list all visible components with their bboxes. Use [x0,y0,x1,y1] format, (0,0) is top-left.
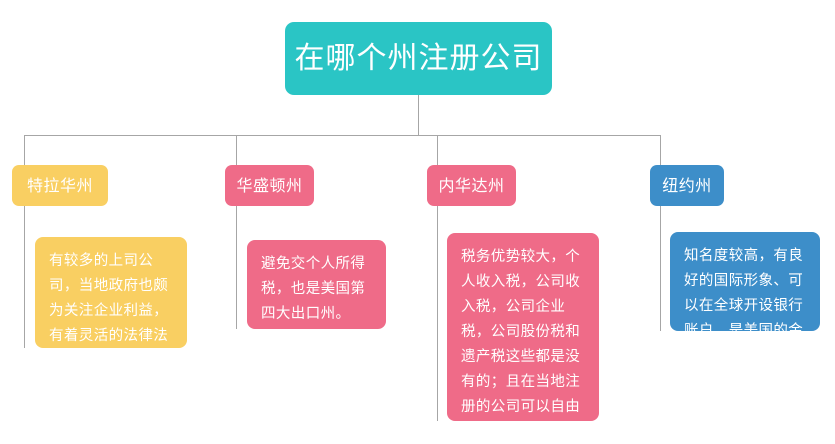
branch-connector-bus [24,135,660,136]
root-node[interactable]: 在哪个州注册公司 [285,22,552,95]
branch-description-delaware[interactable]: 有较多的上司公司，当地政府也颇为关注企业利益，有着灵活的法律法规。 [35,237,187,348]
branch-label-delaware[interactable]: 特拉华州 [12,165,108,206]
branch-stem-newyork [660,206,661,331]
branch-label-washington[interactable]: 华盛顿州 [225,165,314,206]
root-connector-stem [418,95,419,135]
mindmap-canvas: 在哪个州注册公司 特拉华州 有较多的上司公司，当地政府也颇为关注企业利益，有着灵… [0,0,835,444]
branch-description-washington[interactable]: 避免交个人所得税，也是美国第四大出口州。 [247,240,386,329]
branch-stem-delaware [24,206,25,348]
branch-stem-nevada [437,206,438,421]
branch-drop-delaware [24,135,25,165]
branch-drop-newyork [660,135,661,165]
branch-label-nevada[interactable]: 内华达州 [427,165,516,206]
branch-drop-nevada [437,135,438,165]
branch-drop-washington [236,135,237,165]
branch-stem-washington [236,206,237,329]
branch-description-newyork[interactable]: 知名度较高，有良好的国际形象、可以在全球开设银行账户，是美国的金融中心。 [670,232,820,331]
branch-description-nevada[interactable]: 税务优势较大，个人收入税，公司收入税，公司企业税，公司股份税和遗产税这些都是没有… [447,233,599,421]
branch-label-newyork[interactable]: 纽约州 [650,165,724,206]
